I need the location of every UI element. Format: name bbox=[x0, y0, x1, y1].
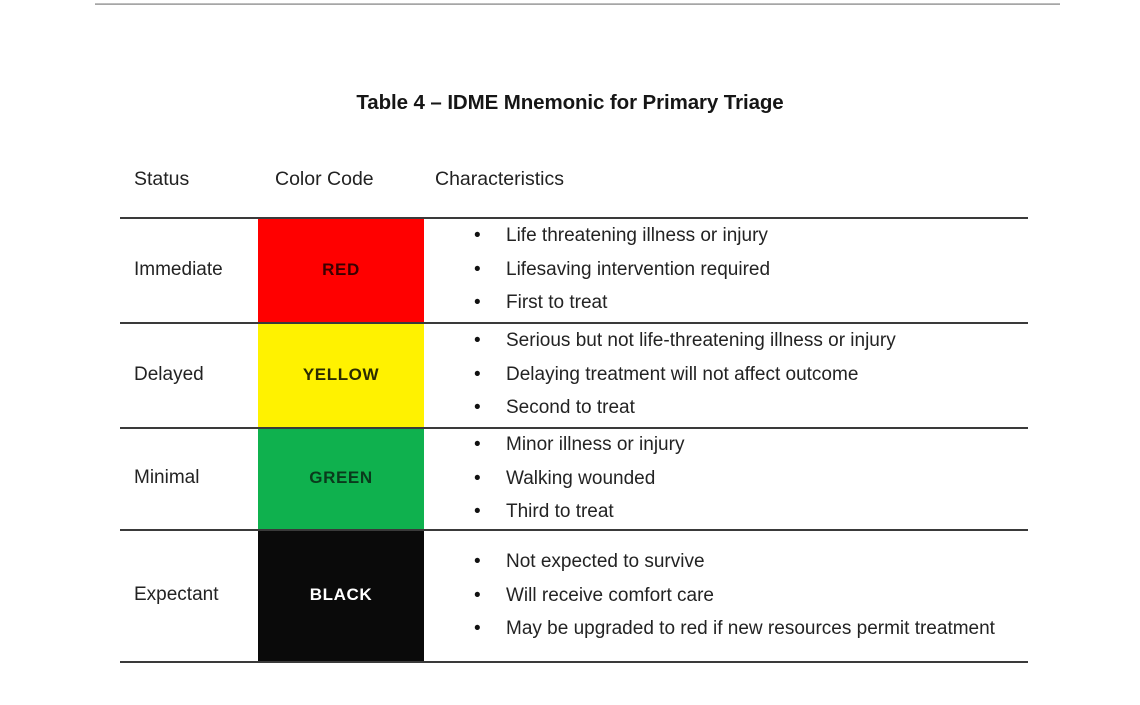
bullet-icon: • bbox=[474, 391, 481, 425]
column-header-color-code: Color Code bbox=[275, 168, 374, 191]
bullet-icon: • bbox=[474, 286, 481, 320]
characteristics-list: •Minor illness or injury•Walking wounded… bbox=[454, 428, 1014, 529]
bullet-icon: • bbox=[474, 462, 481, 496]
list-item: •Not expected to survive bbox=[454, 545, 1014, 579]
list-item-text: Not expected to survive bbox=[506, 551, 705, 572]
bullet-icon: • bbox=[474, 545, 481, 579]
list-item: •Delaying treatment will not affect outc… bbox=[454, 358, 1014, 392]
bullet-icon: • bbox=[474, 428, 481, 462]
bullet-icon: • bbox=[474, 579, 481, 613]
list-item: •Serious but not life-threatening illnes… bbox=[454, 324, 1014, 358]
list-item: •Walking wounded bbox=[454, 462, 1014, 496]
table-header-row: Status Color Code Characteristics bbox=[120, 155, 1028, 217]
list-item-text: Life threatening illness or injury bbox=[506, 225, 768, 246]
characteristics-list: •Life threatening illness or injury•Life… bbox=[454, 219, 1014, 320]
list-item-text: Third to treat bbox=[506, 501, 614, 522]
list-item-text: Lifesaving intervention required bbox=[506, 259, 770, 280]
bullet-icon: • bbox=[474, 253, 481, 287]
bullet-icon: • bbox=[474, 358, 481, 392]
bullet-icon: • bbox=[474, 324, 481, 358]
table-row: Minimal •Minor illness or injury•Walking… bbox=[120, 427, 1028, 529]
list-item: •Life threatening illness or injury bbox=[454, 219, 1014, 253]
list-item-text: Walking wounded bbox=[506, 468, 655, 489]
list-item: •Lifesaving intervention required bbox=[454, 253, 1014, 287]
table-rule-2 bbox=[120, 427, 1028, 429]
table-row: Delayed •Serious but not life-threatenin… bbox=[120, 322, 1028, 427]
bullet-icon: • bbox=[474, 495, 481, 529]
list-item-text: Delaying treatment will not affect outco… bbox=[506, 364, 858, 385]
list-item: •Second to treat bbox=[454, 391, 1014, 425]
list-item: •First to treat bbox=[454, 286, 1014, 320]
page-title: Table 4 – IDME Mnemonic for Primary Tria… bbox=[0, 91, 1140, 115]
characteristics-list: •Not expected to survive•Will receive co… bbox=[454, 545, 1014, 646]
list-item: •Will receive comfort care bbox=[454, 579, 1014, 613]
column-header-status: Status bbox=[134, 168, 189, 191]
status-label: Delayed bbox=[134, 364, 204, 386]
list-item: •Third to treat bbox=[454, 495, 1014, 529]
status-label: Expectant bbox=[134, 584, 219, 606]
table-row: Immediate •Life threatening illness or i… bbox=[120, 217, 1028, 322]
list-item-text: Serious but not life-threatening illness… bbox=[506, 330, 896, 351]
list-item-text: Minor illness or injury bbox=[506, 434, 684, 455]
document-page: Table 4 – IDME Mnemonic for Primary Tria… bbox=[0, 0, 1140, 705]
status-label: Minimal bbox=[134, 467, 199, 489]
list-item-text: May be upgraded to red if new resources … bbox=[506, 618, 995, 639]
list-item: •Minor illness or injury bbox=[454, 428, 1014, 462]
table-rule-bottom bbox=[120, 661, 1028, 663]
table-row: Expectant •Not expected to survive•Will … bbox=[120, 529, 1028, 661]
bullet-icon: • bbox=[474, 612, 481, 646]
list-item: •May be upgraded to red if new resources… bbox=[454, 612, 1014, 646]
list-item-text: First to treat bbox=[506, 292, 607, 313]
list-item-text: Second to treat bbox=[506, 397, 635, 418]
status-label: Immediate bbox=[134, 259, 223, 281]
table-rule-3 bbox=[120, 529, 1028, 531]
column-header-characteristics: Characteristics bbox=[435, 168, 564, 191]
bullet-icon: • bbox=[474, 219, 481, 253]
list-item-text: Will receive comfort care bbox=[506, 585, 714, 606]
characteristics-list: •Serious but not life-threatening illnes… bbox=[454, 324, 1014, 425]
table-rule-top bbox=[120, 217, 1028, 219]
table-rule-1 bbox=[120, 322, 1028, 324]
